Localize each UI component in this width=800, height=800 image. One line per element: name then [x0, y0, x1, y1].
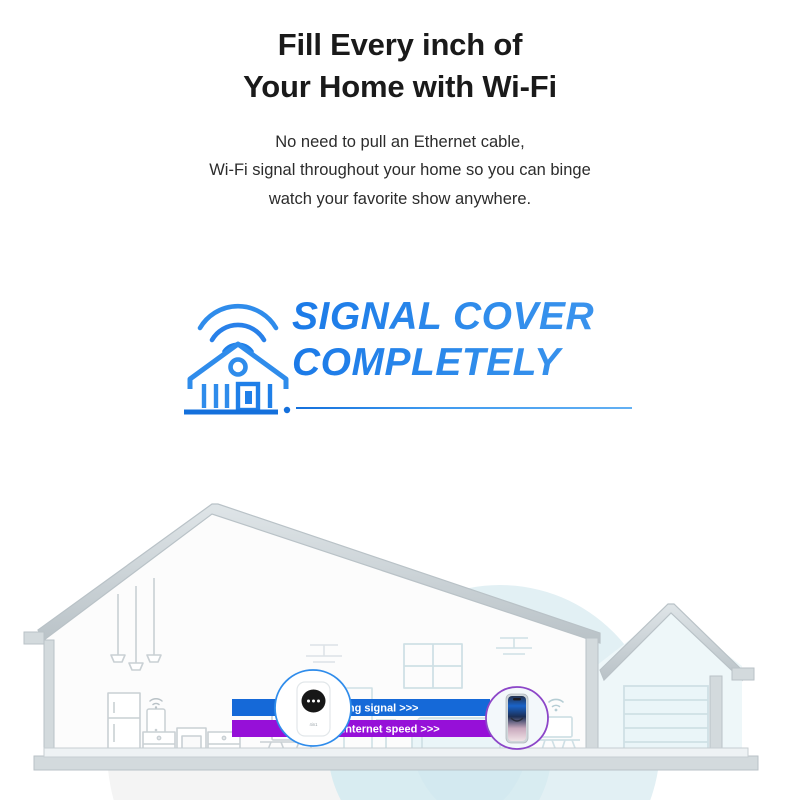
page-title: Fill Every inch of Your Home with Wi-Fi	[0, 24, 800, 109]
page-title-line-1: Fill Every inch of	[278, 27, 522, 62]
tablet-wifi	[147, 709, 165, 734]
page-subtitle-line-2: Wi-Fi signal throughout your home so you…	[0, 156, 800, 184]
house-cross-section-wifi-coverage: <<< Strong signal >>> <<< High Internet …	[0, 470, 800, 800]
smartphone-device[interactable]	[486, 687, 548, 749]
logo-text-line-2: COMPLETELY	[292, 340, 632, 386]
strong-signal-badge[interactable]: <<< Strong signal >>>	[232, 699, 490, 716]
extender-brand-mark: 4in1	[310, 722, 319, 727]
page-subtitle-line-1: No need to pull an Ethernet cable,	[0, 128, 800, 156]
signal-cover-logo-band: SIGNAL COVER COMPLETELY	[182, 288, 632, 418]
page-title-line-2: Your Home with Wi-Fi	[0, 66, 800, 108]
logo-underline	[296, 407, 632, 409]
product-feature-page: Fill Every inch of Your Home with Wi-Fi …	[0, 0, 800, 800]
logo-text-line-1: SIGNAL COVER	[292, 294, 632, 340]
wifi-extender-device[interactable]: 4in1	[275, 670, 351, 746]
page-subtitle: No need to pull an Ethernet cable, Wi-Fi…	[0, 128, 800, 213]
garage-door	[624, 686, 708, 756]
page-subtitle-line-3: watch your favorite show anywhere.	[0, 185, 800, 213]
high-internet-speed-badge[interactable]: <<< High Internet speed >>>	[232, 720, 500, 737]
logo-text: SIGNAL COVER COMPLETELY	[292, 294, 632, 385]
house-wifi-icon	[182, 288, 294, 416]
refrigerator	[108, 693, 140, 756]
